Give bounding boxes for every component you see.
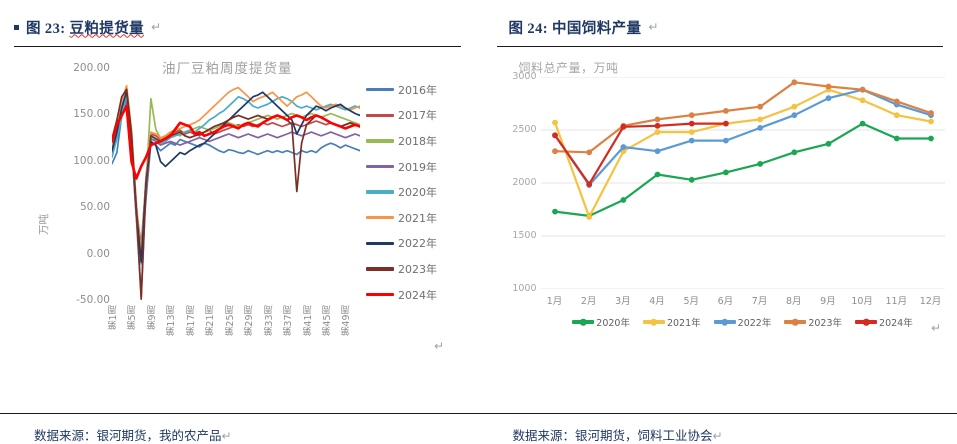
chart-2-legend-item[interactable]: 2020年	[572, 315, 630, 329]
chart-2-lines	[541, 77, 945, 289]
chart-2-legend: 2020年2021年2022年2023年2024年	[543, 315, 943, 329]
chart-1-legend-item[interactable]: 2021年	[366, 205, 478, 231]
chart-soymeal-pickup: 油厂豆粕周度提货量 万吨 200.00150.00100.0050.000.00…	[14, 47, 461, 365]
chart-2-x-tick: 2月	[575, 293, 603, 307]
chart-2-x-tick: 3月	[609, 293, 637, 307]
bullet-icon	[14, 25, 19, 30]
chart-2-y-tick: 1500	[512, 230, 536, 241]
chart-1-x-tick: 第21周	[204, 305, 218, 336]
chart-2-x-tick: 4月	[643, 293, 671, 307]
legend-swatch	[855, 320, 877, 323]
chart-1-legend-item[interactable]: 2020年	[366, 179, 478, 205]
source-text: 数据来源：银河期货，我的农产品	[34, 429, 222, 443]
paragraph-mark-icon-6: ↵	[713, 429, 723, 443]
chart-1-y-tick: 50.00	[80, 201, 110, 213]
chart-1-legend-item[interactable]: 2019年	[366, 154, 478, 180]
figure-24-source: 数据来源：银河期货，饲料工业协会↵	[479, 414, 957, 444]
chart-1-y-tick: 0.00	[87, 248, 110, 260]
chart-2-x-tick: 6月	[711, 293, 739, 307]
legend-label: 2016年	[398, 82, 437, 98]
chart-1-legend-item[interactable]: 2017年	[366, 103, 478, 129]
legend-label: 2022年	[738, 315, 772, 329]
chart-2-x-tick: 1月	[541, 293, 569, 307]
paragraph-mark-icon-5: ↵	[931, 321, 941, 335]
chart-1-legend-item[interactable]: 2024年	[366, 282, 478, 308]
legend-label: 2021年	[667, 315, 701, 329]
paragraph-mark-icon-2: ↵	[434, 339, 444, 353]
chart-2-legend-item[interactable]: 2022年	[714, 315, 772, 329]
chart-1-legend-item[interactable]: 2018年	[366, 128, 478, 154]
chart-1-y-axis-label: 万吨	[36, 214, 51, 235]
chart-1-x-tick: 第45周	[321, 305, 335, 336]
chart-1-plot-area	[112, 69, 360, 301]
figure-23-heading: 图 23: 豆粕提货量 ↵	[14, 0, 461, 40]
chart-2-legend-item[interactable]: 2023年	[784, 315, 842, 329]
chart-2-plot-area	[541, 77, 945, 289]
chart-1-x-tick: 第33周	[263, 305, 277, 336]
legend-label: 2023年	[808, 315, 842, 329]
chart-2-x-tick: 11月	[882, 293, 910, 307]
figure-23-footer: 数据来源：银河期货，我的农产品↵	[0, 413, 479, 444]
chart-1-legend: 2016年2017年2018年2019年2020年2021年2022年2023年…	[366, 77, 478, 307]
chart-1-y-tick: 150.00	[73, 108, 110, 120]
chart-2-x-tick: 10月	[848, 293, 876, 307]
chart-2-x-tick: 7月	[746, 293, 774, 307]
legend-swatch	[366, 293, 394, 296]
legend-label: 2022年	[398, 235, 437, 251]
chart-1-y-tick: 100.00	[73, 155, 110, 167]
chart-1-x-tick: 第41周	[302, 305, 316, 336]
legend-swatch	[366, 216, 394, 219]
legend-label: 2021年	[398, 210, 437, 226]
legend-swatch	[366, 114, 394, 117]
legend-swatch	[784, 320, 806, 323]
legend-swatch	[714, 320, 736, 323]
legend-swatch	[366, 190, 394, 193]
legend-label: 2017年	[398, 107, 437, 123]
figure-23-label: 图 23:	[26, 21, 65, 37]
chart-2-y-ticks: 30002500200015001000	[497, 47, 537, 307]
legend-label: 2024年	[879, 315, 913, 329]
chart-1-y-tick: 200.00	[73, 62, 110, 74]
chart-1-x-tick: 第13周	[165, 305, 179, 336]
chart-1-y-tick: -50.00	[76, 294, 110, 306]
paragraph-mark-icon-3: ↵	[222, 429, 232, 443]
legend-swatch	[366, 242, 394, 245]
figure-23-source: 数据来源：银河期货，我的农产品↵	[0, 414, 479, 444]
chart-2-y-tick: 3000	[512, 71, 536, 82]
chart-2-legend-item[interactable]: 2024年	[855, 315, 913, 329]
legend-label: 2024年	[398, 287, 437, 303]
paragraph-mark-icon-4: ↵	[648, 20, 658, 34]
chart-1-legend-item[interactable]: 2022年	[366, 231, 478, 257]
legend-label: 2020年	[398, 184, 437, 200]
chart-2-x-tick: 5月	[677, 293, 705, 307]
figure-panel-24: 图 24: 中国饲料产量 ↵ 饲料总产量，万吨 3000250020001500…	[479, 0, 957, 444]
report-page: 图 23: 豆粕提货量 ↵ 油厂豆粕周度提货量 万吨 200.00150.001…	[0, 0, 957, 444]
figure-23-name: 豆粕提货量	[70, 21, 145, 37]
chart-1-legend-item[interactable]: 2016年	[366, 77, 478, 103]
chart-1-lines	[112, 69, 360, 301]
chart-2-y-tick: 1000	[512, 283, 536, 294]
paragraph-mark-icon: ↵	[151, 20, 161, 34]
chart-1-x-tick: 第37周	[282, 305, 296, 336]
figure-24-name: 中国饲料产量	[552, 21, 641, 37]
figure-24-label: 图 24:	[509, 21, 548, 37]
legend-swatch	[366, 165, 394, 168]
chart-2-y-tick: 2000	[512, 177, 536, 188]
chart-1-legend-item[interactable]: 2023年	[366, 256, 478, 282]
figure-24-title: 图 24: 中国饲料产量	[509, 17, 642, 38]
source-text-2: 数据来源：银河期货，饲料工业协会	[513, 429, 713, 443]
legend-label: 2019年	[398, 159, 437, 175]
chart-1-x-tick: 第9周	[146, 305, 160, 330]
figure-panel-23: 图 23: 豆粕提货量 ↵ 油厂豆粕周度提货量 万吨 200.00150.001…	[0, 0, 479, 444]
legend-swatch	[572, 320, 594, 323]
chart-2-x-tick: 9月	[814, 293, 842, 307]
legend-label: 2020年	[596, 315, 630, 329]
chart-2-y-tick: 2500	[512, 124, 536, 135]
figure-24-footer: 数据来源：银河期货，饲料工业协会↵	[479, 413, 957, 444]
chart-1-x-tick: 第25周	[224, 305, 238, 336]
chart-1-x-tick: 第49周	[340, 305, 354, 336]
legend-swatch	[366, 267, 394, 270]
legend-swatch	[366, 139, 394, 142]
figure-23-title: 图 23: 豆粕提货量	[26, 17, 144, 38]
chart-1-x-tick: 第1周	[107, 305, 121, 330]
legend-label: 2023年	[398, 261, 437, 277]
chart-1-x-tick: 第5周	[126, 305, 140, 330]
chart-2-legend-item[interactable]: 2021年	[643, 315, 701, 329]
chart-feed-output: 饲料总产量，万吨 30002500200015001000 1月2月3月4月5月…	[497, 47, 944, 365]
legend-swatch	[643, 320, 665, 323]
chart-1-x-tick: 第17周	[185, 305, 199, 336]
chart-1-x-tick: 第29周	[243, 305, 257, 336]
chart-2-x-tick: 8月	[780, 293, 808, 307]
figure-24-heading: 图 24: 中国饲料产量 ↵	[497, 0, 944, 40]
legend-swatch	[366, 88, 394, 91]
chart-1-y-ticks: 200.00150.00100.0050.000.00-50.00	[52, 47, 110, 305]
chart-2-x-tick: 12月	[917, 293, 945, 307]
legend-label: 2018年	[398, 133, 437, 149]
